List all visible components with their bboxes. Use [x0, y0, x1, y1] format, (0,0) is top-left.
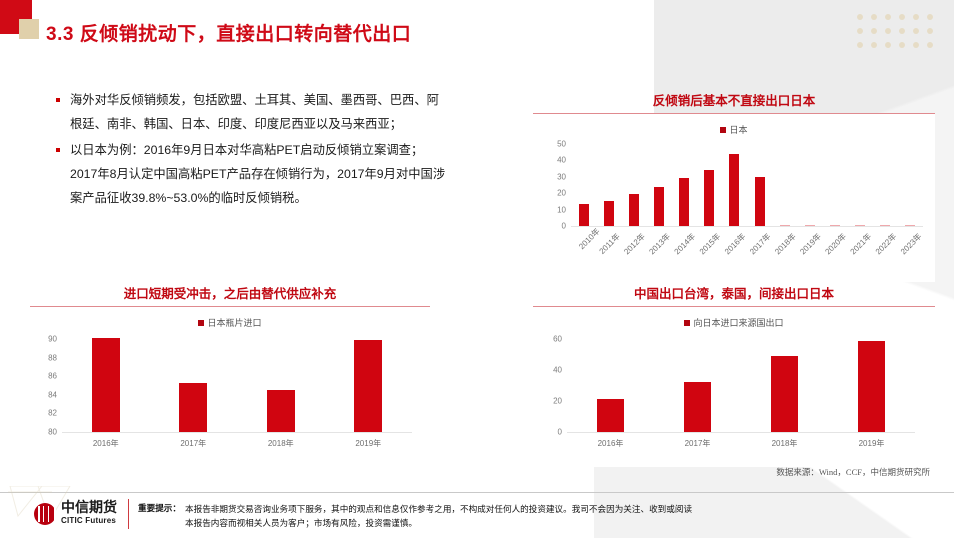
legend-swatch-icon — [198, 320, 204, 326]
x-axis-tick-label: 2016年 — [567, 438, 654, 449]
chart-panel-bottom-left: 进口短期受冲击，之后由替代供应补充 日本瓶片进口 808284868890201… — [30, 283, 430, 467]
chart-bar — [858, 341, 884, 432]
chart-title: 进口短期受冲击，之后由替代供应补充 — [30, 283, 430, 306]
footer-disclaimer-text: 本报告非期货交易咨询业务项下服务，其中的观点和信息仅作参考之用，不构成对任何人的… — [185, 502, 905, 530]
x-axis-tick-label: 2017年 — [150, 438, 238, 449]
list-item: 海外对华反倾销频发，包括欧盟、土耳其、美国、墨西哥、巴西、阿根廷、南非、韩国、日… — [56, 88, 446, 136]
x-axis-tick-label: 2018年 — [741, 438, 828, 449]
x-axis-baseline — [62, 432, 412, 433]
y-axis-tick-label: 60 — [553, 335, 562, 344]
chart-bar — [654, 187, 664, 226]
chart-bar — [905, 225, 915, 226]
x-axis-tick-label: 2019年 — [828, 438, 915, 449]
chart-title: 中国出口台湾，泰国，间接出口日本 — [533, 283, 935, 306]
bullet-square-icon — [56, 148, 60, 152]
y-axis-tick-label: 84 — [48, 390, 57, 399]
legend-swatch-icon — [720, 127, 726, 133]
chart-bar — [684, 382, 710, 432]
company-logo: 中信期货 CITIC Futures — [34, 501, 117, 526]
y-axis-tick-label: 88 — [48, 353, 57, 362]
y-axis-tick-label: 86 — [48, 372, 57, 381]
corner-square-tan-icon — [19, 19, 39, 39]
legend-label: 日本 — [729, 125, 747, 135]
chart-bar — [855, 225, 865, 226]
x-axis-tick-label: 2016年 — [62, 438, 150, 449]
chart-bar — [880, 225, 890, 226]
chart-bar — [780, 225, 790, 226]
chart-bar — [267, 390, 295, 432]
logo-text-cn: 中信期货 — [61, 501, 117, 516]
bullet-square-icon — [56, 98, 60, 102]
chart-plot-area: 向日本进口来源国出口 02040602016年2017年2018年2019年 — [533, 307, 935, 467]
dot-grid-decoration-icon — [857, 14, 936, 51]
chart-bar — [354, 340, 382, 432]
chart-bar — [704, 170, 714, 226]
chart-bar — [830, 225, 840, 226]
bullet-list: 海外对华反倾销频发，包括欧盟、土耳其、美国、墨西哥、巴西、阿根廷、南非、韩国、日… — [56, 88, 446, 212]
chart-plot-area: 日本瓶片进口 8082848688902016年2017年2018年2019年 — [30, 307, 430, 467]
y-axis-tick-label: 40 — [553, 366, 562, 375]
chart-bars-container: 8082848688902016年2017年2018年2019年 — [62, 339, 412, 432]
chart-bar — [805, 225, 815, 226]
list-item-text: 海外对华反倾销频发，包括欧盟、土耳其、美国、墨西哥、巴西、阿根廷、南非、韩国、日… — [70, 88, 446, 136]
list-item-text: 以日本为例：2016年9月日本对华高粘PET启动反倾销立案调查；2017年8月认… — [70, 138, 446, 210]
y-axis-tick-label: 82 — [48, 409, 57, 418]
footer-disclaimer-line1: 本报告非期货交易咨询业务项下服务，其中的观点和信息仅作参考之用，不构成对任何人的… — [185, 502, 905, 516]
chart-bar — [679, 178, 689, 226]
chart-bars-container: 02040602016年2017年2018年2019年 — [567, 339, 915, 432]
y-axis-tick-label: 80 — [48, 428, 57, 437]
footer-disclaimer-line2: 本报告内容而视相关人员为客户；市场有风险，投资需谨慎。 — [185, 516, 905, 530]
y-axis-tick-label: 10 — [557, 205, 566, 214]
y-axis-tick-label: 50 — [557, 140, 566, 149]
x-axis-tick-label: 2017年 — [654, 438, 741, 449]
chart-title: 反倾销后基本不直接出口日本 — [533, 90, 935, 113]
x-axis-baseline — [567, 432, 915, 433]
chart-bar — [629, 194, 639, 226]
chart-legend: 日本瓶片进口 — [30, 307, 430, 331]
x-axis-tick-label: 2019年 — [325, 438, 413, 449]
chart-bar — [179, 383, 207, 432]
x-axis-tick-label: 2010年 — [576, 231, 597, 252]
data-source-note: 数据来源：Wind，CCF，中信期货研究所 — [776, 466, 930, 478]
legend-label: 向日本进口来源国出口 — [693, 318, 783, 328]
footer-vertical-divider — [128, 499, 129, 529]
legend-label: 日本瓶片进口 — [207, 318, 261, 328]
y-axis-tick-label: 20 — [557, 189, 566, 198]
y-axis-tick-label: 0 — [562, 222, 566, 231]
chart-legend: 日本 — [533, 114, 935, 138]
footer: 中信期货 CITIC Futures 重要提示： 本报告非期货交易咨询业务项下服… — [0, 493, 954, 538]
footer-disclaimer-label: 重要提示： — [138, 502, 181, 514]
chart-plot-area: 日本 010203040502010年2011年2012年2013年2014年2… — [533, 114, 935, 282]
chart-bar — [604, 201, 614, 226]
chart-panel-top-right: 反倾销后基本不直接出口日本 日本 010203040502010年2011年20… — [533, 90, 935, 282]
y-axis-tick-label: 0 — [558, 428, 562, 437]
legend-swatch-icon — [684, 320, 690, 326]
list-item: 以日本为例：2016年9月日本对华高粘PET启动反倾销立案调查；2017年8月认… — [56, 138, 446, 210]
chart-panel-bottom-right: 中国出口台湾，泰国，间接出口日本 向日本进口来源国出口 02040602016年… — [533, 283, 935, 467]
chart-bar — [597, 399, 623, 432]
chart-bar — [92, 338, 120, 432]
chart-legend: 向日本进口来源国出口 — [533, 307, 935, 331]
page-title: 3.3 反倾销扰动下，直接出口转向替代出口 — [46, 19, 411, 46]
chart-bar — [755, 177, 765, 226]
chart-bar — [771, 356, 797, 432]
citic-logo-icon — [34, 503, 56, 525]
chart-bars-container: 010203040502010年2011年2012年2013年2014年2015… — [571, 144, 923, 226]
logo-text-en: CITIC Futures — [61, 516, 117, 526]
y-axis-tick-label: 40 — [557, 156, 566, 165]
x-axis-tick-label: 2018年 — [237, 438, 325, 449]
chart-bar — [579, 204, 589, 226]
y-axis-tick-label: 30 — [557, 172, 566, 181]
y-axis-tick-label: 20 — [553, 397, 562, 406]
x-axis-baseline — [571, 226, 923, 227]
y-axis-tick-label: 90 — [48, 335, 57, 344]
chart-bar — [729, 154, 739, 226]
